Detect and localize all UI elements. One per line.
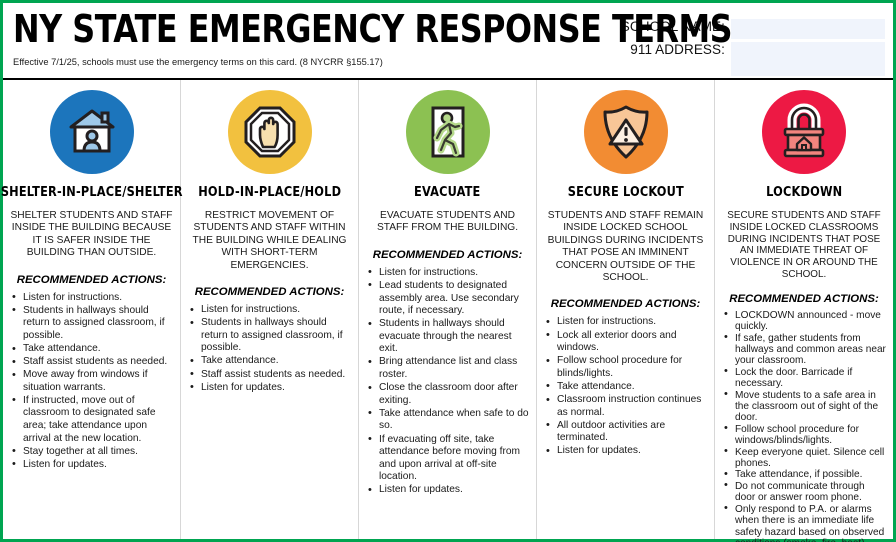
list-item: Students in hallways should evacuate thr… [368,318,529,356]
house-shelter-icon [50,90,134,174]
term-name: LOCKDOWN [766,185,842,200]
term-definition: SHELTER STUDENTS AND STAFF INSIDE THE BU… [10,210,173,260]
list-item: Listen for updates. [12,459,173,472]
list-item: Keep everyone quiet. Silence cell phones… [724,447,886,470]
list-item: If instructed, move out of classroom to … [12,395,173,445]
actions-heading: RECOMMENDED ACTIONS: [10,274,173,286]
term-name: HOLD-IN-PLACE/HOLD [198,185,341,200]
list-item: Students in hallways should return to as… [190,317,351,355]
list-item: Listen for instructions. [546,316,707,329]
term-column-evacuate: EVACUATE EVACUATE STUDENTS AND STAFF FRO… [359,80,537,539]
list-item: Classroom instruction continues as norma… [546,394,707,419]
actions-list: Listen for instructions. Lead students t… [366,267,529,498]
actions-heading: RECOMMENDED ACTIONS: [366,249,529,261]
list-item: Lock the door. Barricade if necessary. [724,367,886,390]
actions-heading: RECOMMENDED ACTIONS: [722,293,886,305]
list-item: Listen for instructions. [190,304,351,317]
list-item: Listen for instructions. [368,267,529,280]
list-item: Stay together at all times. [12,446,173,459]
term-name: SECURE LOCKOUT [567,185,683,200]
list-item: LOCKDOWN announced - move quickly. [724,310,886,333]
address-input[interactable] [731,42,885,76]
list-item: Lock all exterior doors and windows. [546,330,707,355]
term-name: EVACUATE [414,185,480,200]
list-item: Take attendance. [190,355,351,368]
term-definition: EVACUATE STUDENTS AND STAFF FROM THE BUI… [366,210,529,235]
page-subtitle: Effective 7/1/25, schools must use the e… [13,56,613,68]
term-definition: STUDENTS AND STAFF REMAIN INSIDE LOCKED … [544,210,707,284]
card-header: NY STATE EMERGENCY RESPONSE TERMS Effect… [3,3,893,78]
actions-heading: RECOMMENDED ACTIONS: [544,298,707,310]
actions-heading: RECOMMENDED ACTIONS: [188,286,351,298]
list-item: Bring attendance list and class roster. [368,356,529,381]
actions-list: Listen for instructions. Students in hal… [10,292,173,472]
list-item: Take attendance when safe to do so. [368,408,529,433]
actions-list: Listen for instructions. Students in hal… [188,304,351,395]
term-column-lockdown: LOCKDOWN SECURE STUDENTS AND STAFF INSID… [715,80,893,539]
list-item: Do not communicate through door or answe… [724,481,886,504]
list-item: Move away from windows if situation warr… [12,369,173,394]
term-column-hold-in-place: HOLD-IN-PLACE/HOLD RESTRICT MOVEMENT OF … [181,80,359,539]
list-item: Listen for updates. [546,445,707,458]
list-item: Take attendance, if possible. [724,469,886,480]
list-item: Staff assist students as needed. [190,369,351,382]
list-item: Only respond to P.A. or alarms when ther… [724,504,886,542]
list-item: Students in hallways should return to as… [12,305,173,343]
list-item: Staff assist students as needed. [12,356,173,369]
terms-columns: SHELTER-IN-PLACE/SHELTER SHELTER STUDENT… [3,80,893,539]
list-item: If evacuating off site, take attendance … [368,434,529,484]
term-column-secure-lockout: SECURE LOCKOUT STUDENTS AND STAFF REMAIN… [537,80,715,539]
actions-list: LOCKDOWN announced - move quickly. If sa… [722,310,886,542]
list-item: Close the classroom door after exiting. [368,382,529,407]
list-item: Take attendance. [12,343,173,356]
list-item: Listen for updates. [190,382,351,395]
padlock-house-icon [762,90,846,174]
list-item: Follow school procedure for blinds/light… [546,355,707,380]
list-item: Follow school procedure for windows/blin… [724,424,886,447]
list-item: Take attendance. [546,381,707,394]
header-title-block: NY STATE EMERGENCY RESPONSE TERMS Effect… [13,9,613,68]
stop-hand-octagon-icon [228,90,312,174]
school-name-input[interactable] [731,19,885,39]
list-item: Listen for instructions. [12,292,173,305]
running-person-exit-icon [406,90,490,174]
shield-warning-icon [584,90,668,174]
term-name: SHELTER-IN-PLACE/SHELTER [1,185,183,200]
emergency-response-card: NY STATE EMERGENCY RESPONSE TERMS Effect… [0,0,896,542]
list-item: Lead students to designated assembly are… [368,280,529,318]
term-definition: RESTRICT MOVEMENT OF STUDENTS AND STAFF … [188,210,351,272]
list-item: Move students to a safe area in the clas… [724,390,886,424]
actions-list: Listen for instructions. Lock all exteri… [544,316,707,458]
term-column-shelter-in-place: SHELTER-IN-PLACE/SHELTER SHELTER STUDENT… [3,80,181,539]
page-title: NY STATE EMERGENCY RESPONSE TERMS [13,9,571,49]
list-item: If safe, gather students from hallways a… [724,333,886,367]
term-definition: SECURE STUDENTS AND STAFF INSIDE LOCKED … [722,210,886,281]
list-item: Listen for updates. [368,484,529,497]
list-item: All outdoor activities are terminated. [546,420,707,445]
